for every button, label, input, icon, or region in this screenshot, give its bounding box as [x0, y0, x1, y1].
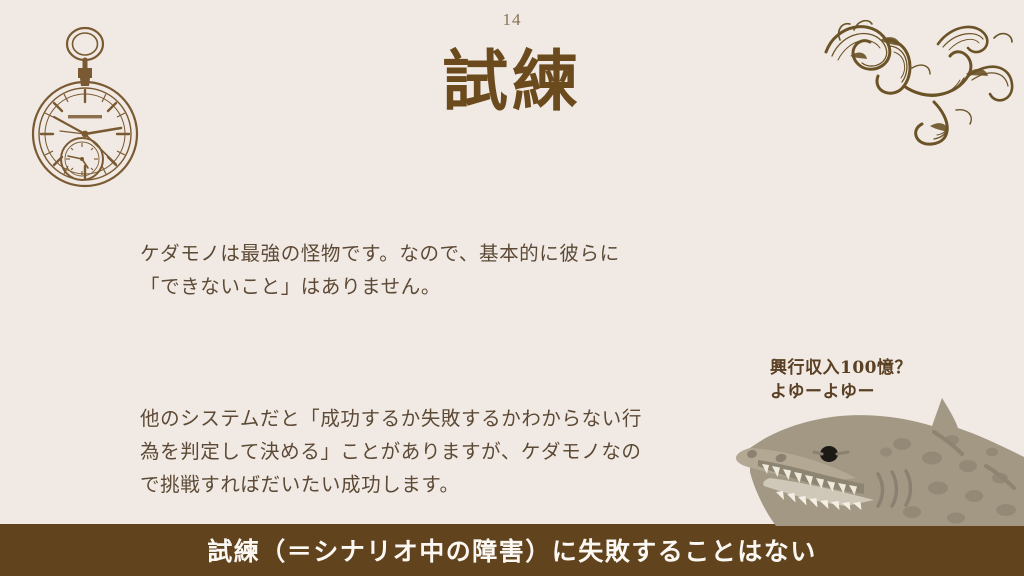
- baroque-flourish-icon: [806, 6, 1018, 148]
- body-paragraph: 他のシステムだと「成功するか失敗するかわからない行 為を判定して決める」ことがあ…: [140, 403, 780, 502]
- pocket-watch-icon: [24, 18, 146, 194]
- shark-caption: 興行収入100憶？ よゆーよゆー: [770, 356, 912, 404]
- body-copy: ケダモノは最強の怪物です。なので、基本的に彼らに 「できないこと」はありません。…: [140, 172, 780, 576]
- bottom-banner-text: 試練（＝シナリオ中の障害）に失敗することはない: [207, 532, 817, 568]
- body-paragraph: ケダモノは最強の怪物です。なので、基本的に彼らに 「できないこと」はありません。: [140, 238, 780, 304]
- bottom-banner: 試練（＝シナリオ中の障害）に失敗することはない: [0, 524, 1024, 576]
- shark-illustration: [706, 392, 1024, 526]
- slide-canvas: 14 試練: [0, 0, 1024, 576]
